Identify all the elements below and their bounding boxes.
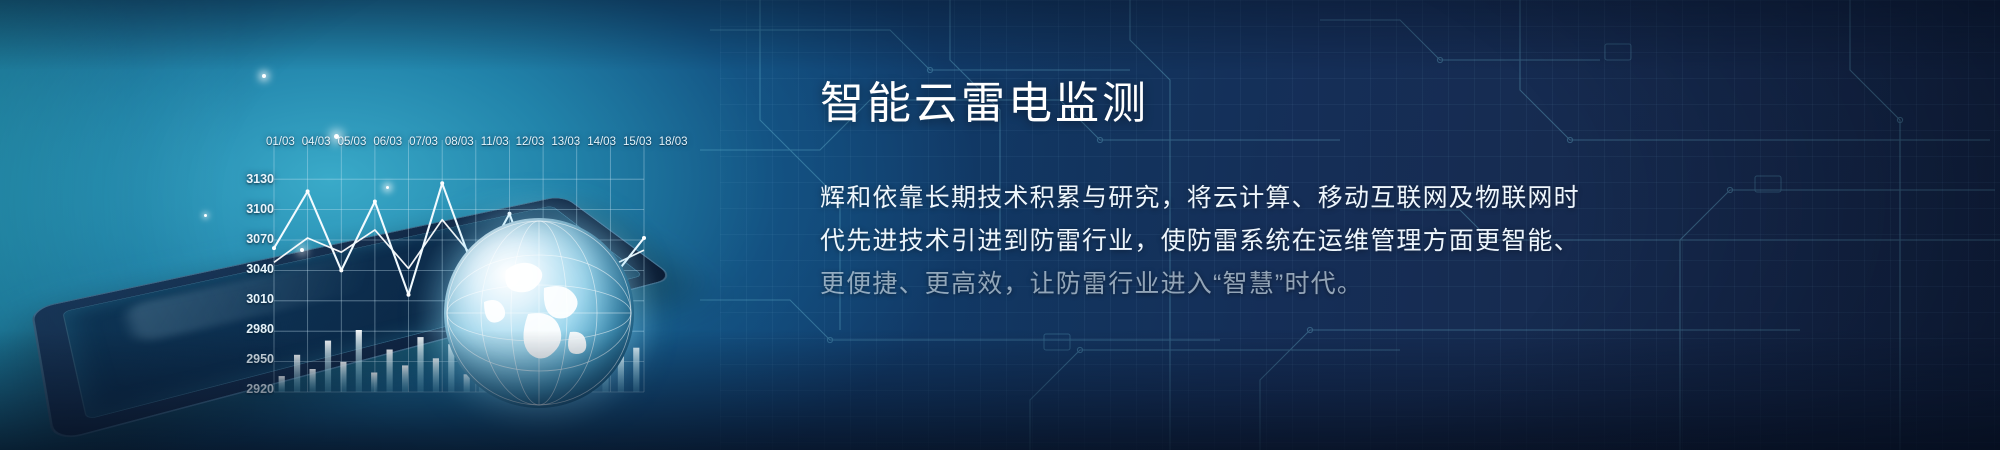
earth-globe-icon: [444, 218, 634, 408]
page-title: 智能云雷电监测: [820, 78, 1940, 131]
sparkle-dot: [262, 74, 266, 78]
tablet-visual: 01/03 04/03 05/03 06/03 07/03 08/03 11/0…: [52, 118, 702, 418]
top-fade-overlay: [0, 0, 2000, 70]
description-line-3: 更便捷、更高效，让防雷行业进入“智慧”时代。: [820, 263, 1940, 306]
hero-banner: 01/03 04/03 05/03 06/03 07/03 08/03 11/0…: [0, 0, 2000, 450]
description-line-2: 代先进技术引进到防雷行业，使防雷系统在运维管理方面更智能、: [820, 220, 1940, 263]
globe-visual: [444, 218, 634, 408]
x-tick: 18/03: [659, 136, 688, 148]
description-line-1: 辉和依靠长期技术积累与研究，将云计算、移动互联网及物联网时: [820, 177, 1940, 220]
banner-copy: 智能云雷电监测 辉和依靠长期技术积累与研究，将云计算、移动互联网及物联网时 代先…: [820, 78, 1940, 306]
globe-grid: [444, 218, 634, 408]
banner-description: 辉和依靠长期技术积累与研究，将云计算、移动互联网及物联网时 代先进技术引进到防雷…: [820, 177, 1940, 306]
